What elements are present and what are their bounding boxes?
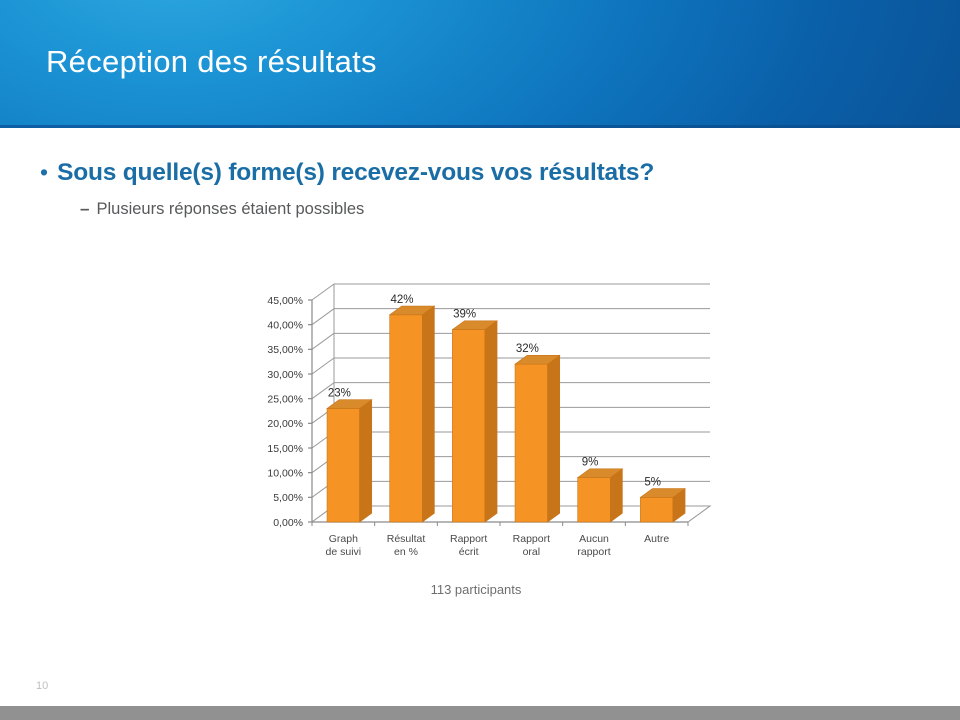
bar-column (515, 355, 560, 522)
y-axis-tick-label: 5,00% (273, 492, 303, 504)
page-number: 10 (36, 680, 48, 692)
x-axis-category-label: Autre (644, 533, 669, 545)
bar-column (640, 489, 685, 522)
bullet-primary-label: Sous quelle(s) forme(s) recevez-vous vos… (57, 159, 654, 187)
bar-value-label: 5% (644, 476, 661, 488)
bar-value-label: 42% (390, 294, 413, 306)
bullet-item-primary: • Sous quelle(s) forme(s) recevez-vous v… (40, 159, 654, 187)
chart-bars (327, 306, 685, 522)
bar-chart-svg: 0,00%5,00%10,00%15,00%20,00%25,00%30,00%… (236, 282, 716, 582)
y-axis-tick-label: 0,00% (273, 517, 303, 529)
x-axis-category-label: Rapport (513, 533, 550, 545)
y-axis-tick-label: 45,00% (267, 295, 303, 307)
x-axis-category-label: écrit (459, 546, 479, 558)
x-axis-category-label: Graph (329, 533, 358, 545)
x-axis-category-label: rapport (577, 546, 610, 558)
bar-value-label: 23% (328, 388, 351, 400)
y-axis-tick-label: 30,00% (267, 369, 303, 381)
x-axis-category-label: Aucun (579, 533, 609, 545)
y-axis-tick-label: 15,00% (267, 443, 303, 455)
bar-column (578, 469, 623, 522)
bar-column (327, 400, 372, 522)
bar-value-label: 9% (582, 457, 599, 469)
bar-column (390, 306, 435, 522)
bar-value-label: 39% (453, 309, 476, 321)
y-axis-tick-label: 10,00% (267, 467, 303, 479)
chart-category-labels: Graphde suiviRésultaten %RapportécritRap… (326, 533, 670, 558)
y-axis-tick-label: 40,00% (267, 319, 303, 331)
slide-header-banner: Réception des résultats (0, 0, 960, 128)
bullet-marker-icon: • (40, 159, 48, 185)
bullet-item-secondary: – Plusieurs réponses étaient possibles (80, 199, 364, 219)
x-axis-category-label: Rapport (450, 533, 487, 545)
page-title: Réception des résultats (46, 44, 377, 80)
x-axis-category-label: Résultat (387, 533, 426, 545)
bar-value-label: 32% (516, 343, 539, 355)
y-axis-tick-label: 25,00% (267, 393, 303, 405)
bullet-secondary-label: Plusieurs réponses étaient possibles (96, 199, 364, 219)
footer-bar (0, 706, 960, 720)
y-axis-tick-label: 20,00% (267, 418, 303, 430)
bar-column (452, 321, 497, 522)
bar-chart: 0,00%5,00%10,00%15,00%20,00%25,00%30,00%… (236, 282, 716, 602)
x-axis-category-label: de suivi (326, 546, 362, 558)
chart-y-axis-labels: 0,00%5,00%10,00%15,00%20,00%25,00%30,00%… (267, 295, 303, 529)
y-axis-tick-label: 35,00% (267, 344, 303, 356)
dash-marker-icon: – (80, 199, 89, 219)
chart-caption: 113 participants (236, 582, 716, 597)
x-axis-category-label: en % (394, 546, 418, 558)
x-axis-category-label: oral (523, 546, 541, 558)
